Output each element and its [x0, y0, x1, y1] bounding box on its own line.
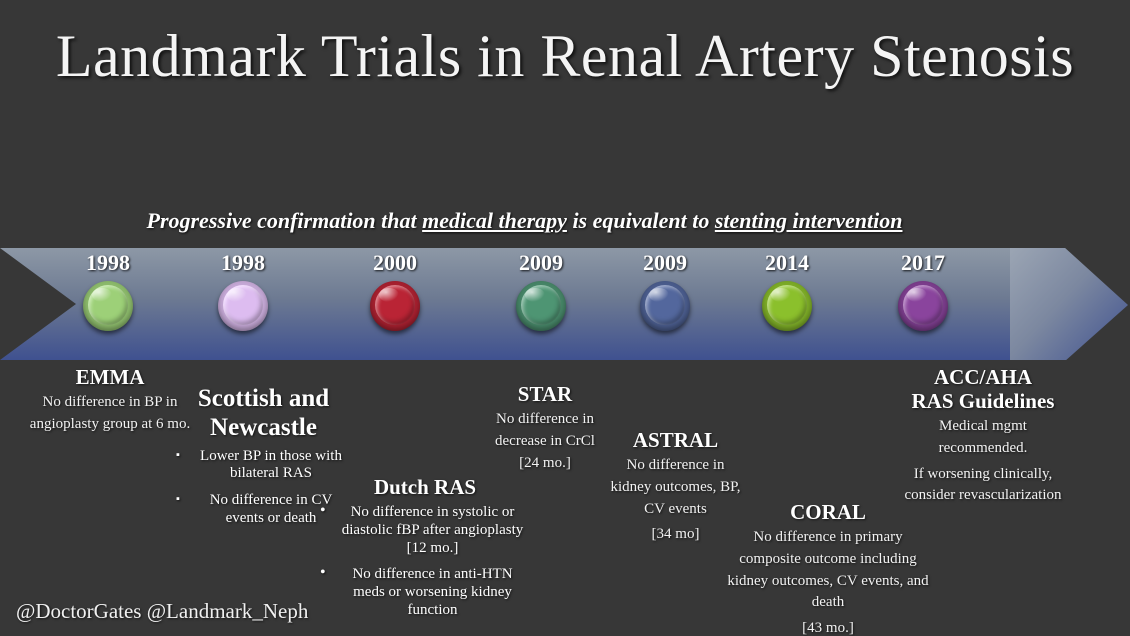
banner-prefix: Progressive confirmation that [147, 208, 423, 233]
year-label: 1998 [48, 252, 168, 274]
trial-line: kidney outcomes, CV events, and [713, 573, 943, 591]
trial-title-star: STAR [455, 382, 635, 406]
trial-line: Medical mgmt [838, 418, 1128, 436]
square-bullet-icon: ▪ [176, 493, 180, 506]
trial-title-line: Newcastle [176, 414, 351, 443]
milestone-1998-scottish[interactable]: 1998 [183, 252, 303, 331]
year-label: 2014 [727, 252, 847, 274]
trial-block-coral: CORAL No difference in primary composite… [713, 500, 943, 636]
author-handles: @DoctorGates @Landmark_Neph [16, 599, 308, 624]
dot-holder [481, 281, 601, 331]
bullet-text: No difference in anti-HTN meds or worsen… [352, 566, 512, 617]
dot-holder [863, 281, 983, 331]
trial-title-line: ACC/AHA [838, 365, 1128, 389]
trial-title-line: RAS Guidelines [838, 389, 1128, 413]
year-label: 2009 [605, 252, 725, 274]
milestone-dot[interactable] [898, 281, 948, 331]
milestone-2000-dutch[interactable]: 2000 [335, 252, 455, 331]
milestone-dot[interactable] [640, 281, 690, 331]
trial-block-acc-aha-guidelines: ACC/AHA RAS Guidelines Medical mgmt reco… [838, 365, 1128, 505]
banner-middle: is equivalent to [567, 208, 715, 233]
dot-holder [727, 281, 847, 331]
trial-line: No difference in [578, 457, 773, 475]
trial-bullets-dutch: • No difference in systolic or diastolic… [320, 504, 530, 619]
year-label: 1998 [183, 252, 303, 274]
trial-detail-accaha: Medical mgmt recommended. If worsening c… [838, 418, 1128, 505]
banner-emphasis-stenting: stenting intervention [715, 208, 903, 233]
year-label: 2009 [481, 252, 601, 274]
slide-canvas: Landmark Trials in Renal Artery Stenosis [0, 0, 1130, 636]
page-title: Landmark Trials in Renal Artery Stenosis [0, 22, 1130, 91]
trial-title-line: Scottish and [176, 385, 351, 414]
milestone-dot[interactable] [83, 281, 133, 331]
trial-line: kidney outcomes, BP, [578, 479, 773, 497]
round-bullet-icon: • [320, 502, 326, 521]
trial-title-accaha: ACC/AHA RAS Guidelines [838, 365, 1128, 413]
year-label: 2000 [335, 252, 455, 274]
milestone-2014-coral[interactable]: 2014 [727, 252, 847, 331]
bullet-item: • No difference in systolic or diastolic… [320, 504, 530, 557]
trial-detail-coral: No difference in primary composite outco… [713, 529, 943, 636]
trial-line: No difference in [455, 411, 635, 429]
trial-title-astral: ASTRAL [578, 428, 773, 452]
dot-holder [183, 281, 303, 331]
year-label: 2017 [863, 252, 983, 274]
trial-line: recommended. [838, 440, 1128, 458]
milestone-1998-emma[interactable]: 1998 [48, 252, 168, 331]
dot-holder [605, 281, 725, 331]
dot-holder [335, 281, 455, 331]
bullet-text: No difference in CV events or death [210, 492, 333, 526]
trial-title-scottish: Scottish and Newcastle [176, 385, 351, 443]
trial-title-dutch: Dutch RAS [320, 475, 530, 499]
bullet-text: No difference in systolic or diastolic f… [342, 504, 524, 555]
milestone-dot[interactable] [516, 281, 566, 331]
trial-line: If worsening clinically, [838, 466, 1128, 484]
milestone-dot[interactable] [370, 281, 420, 331]
milestone-2009-star[interactable]: 2009 [481, 252, 601, 331]
trial-line: No difference in primary [713, 529, 943, 547]
trial-line: death [713, 594, 943, 612]
banner-statement: Progressive confirmation that medical th… [52, 208, 997, 234]
milestone-2017-accaha[interactable]: 2017 [863, 252, 983, 331]
trial-line: composite outcome including [713, 551, 943, 569]
milestone-dot[interactable] [762, 281, 812, 331]
round-bullet-icon: • [320, 564, 326, 583]
bullet-item: • No difference in anti-HTN meds or wors… [320, 566, 530, 619]
dot-holder [48, 281, 168, 331]
trial-line: consider revascularization [838, 487, 1128, 505]
square-bullet-icon: ▪ [176, 449, 180, 462]
trial-duration: [43 mo.] [713, 620, 943, 636]
banner-emphasis-medical-therapy: medical therapy [422, 208, 567, 233]
milestone-dot[interactable] [218, 281, 268, 331]
milestone-2009-astral[interactable]: 2009 [605, 252, 725, 331]
trial-block-dutch-ras: Dutch RAS • No difference in systolic or… [320, 475, 530, 619]
